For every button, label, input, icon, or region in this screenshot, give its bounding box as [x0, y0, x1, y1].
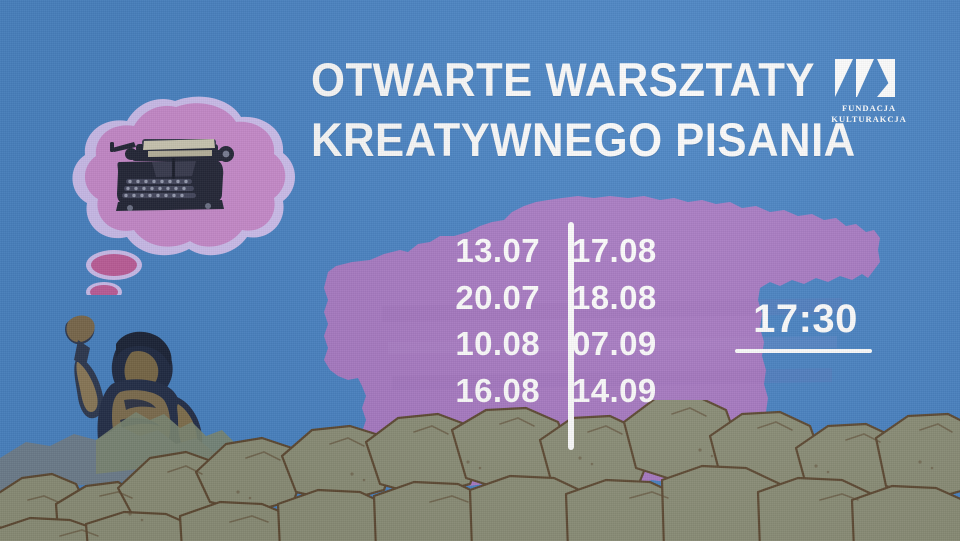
kulturakcja-logo-mark-icon	[833, 55, 905, 97]
dates-column-left: 13.07 20.07 10.08 16.08	[440, 228, 540, 414]
organization-logo: FUNDACJA KULTURAKCJA	[828, 55, 910, 125]
vintage-typewriter-icon	[96, 132, 236, 217]
dates-block: 13.07 20.07 10.08 16.08 17.08 18.08 07.0…	[440, 228, 672, 414]
headline-line-1: OTWARTE WARSZTATY	[311, 50, 856, 110]
date-item: 20.07	[440, 275, 540, 322]
logo-line-1: FUNDACJA	[828, 103, 910, 114]
date-item: 13.07	[440, 228, 540, 275]
date-item: 17.08	[572, 228, 672, 275]
date-item: 14.09	[572, 368, 672, 415]
dates-vertical-divider	[568, 222, 574, 450]
dates-column-right: 17.08 18.08 07.09 14.09	[572, 228, 672, 414]
event-time: 17:30	[733, 297, 878, 353]
page-title: OTWARTE WARSZTATY KREATYWNEGO PISANIA	[311, 50, 856, 170]
time-value: 17:30	[733, 297, 878, 341]
date-item: 10.08	[440, 321, 540, 368]
date-item: 07.09	[572, 321, 672, 368]
rock-pile	[0, 400, 960, 541]
time-underline	[735, 349, 872, 353]
poster-canvas: OTWARTE WARSZTATY KREATYWNEGO PISANIA FU…	[0, 0, 960, 541]
headline-line-2: KREATYWNEGO PISANIA	[311, 110, 856, 170]
date-item: 18.08	[572, 275, 672, 322]
logo-line-2: KULTURAKCJA	[828, 114, 910, 125]
date-item: 16.08	[440, 368, 540, 415]
